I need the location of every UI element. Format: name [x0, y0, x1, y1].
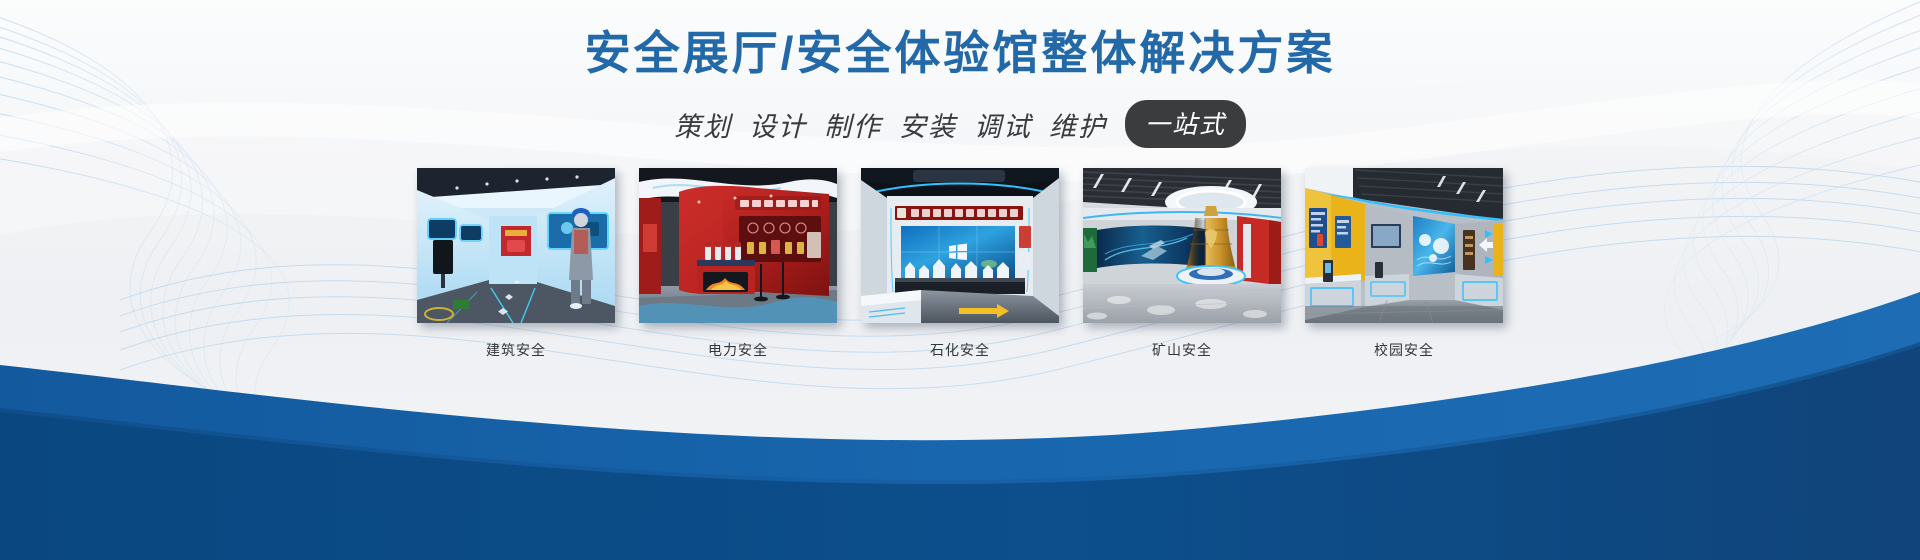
- thumbnail-card[interactable]: 石化安全: [861, 168, 1059, 360]
- thumbnail-caption: 建筑安全: [486, 340, 546, 360]
- thumbnail-image-power[interactable]: [639, 168, 837, 323]
- thumbnail-caption: 校园安全: [1374, 340, 1434, 360]
- thumbnail-image-construction[interactable]: [417, 168, 615, 323]
- thumbnail-card[interactable]: 矿山安全: [1083, 168, 1281, 360]
- service-steps: 策划 设计 制作 安装 调试 维护: [674, 105, 1107, 144]
- banner-root: 安全展厅/安全体验馆整体解决方案 策划 设计 制作 安装 调试 维护 一站式: [0, 0, 1920, 560]
- service-step-design: 设计: [749, 105, 807, 144]
- service-step-production: 制作: [824, 105, 882, 144]
- thumbnail-strip: 建筑安全: [0, 168, 1920, 360]
- thumbnail-card[interactable]: 建筑安全: [417, 168, 615, 360]
- service-step-maintenance: 维护: [1049, 105, 1107, 144]
- thumbnail-caption: 电力安全: [708, 340, 768, 360]
- one-stop-badge: 一站式: [1125, 100, 1246, 148]
- thumbnail-image-campus[interactable]: [1305, 168, 1503, 323]
- thumbnail-caption: 矿山安全: [1152, 340, 1212, 360]
- service-step-planning: 策划: [674, 105, 732, 144]
- thumbnail-image-mine[interactable]: [1083, 168, 1281, 323]
- page-title: 安全展厅/安全体验馆整体解决方案: [0, 26, 1920, 81]
- thumbnail-caption: 石化安全: [930, 340, 990, 360]
- thumbnail-image-petrochemical[interactable]: [861, 168, 1059, 323]
- subtitle-row: 策划 设计 制作 安装 调试 维护 一站式: [0, 100, 1920, 148]
- service-step-installation: 安装: [899, 105, 957, 144]
- thumbnail-card[interactable]: 校园安全: [1305, 168, 1503, 360]
- service-step-debugging: 调试: [974, 105, 1032, 144]
- thumbnail-card[interactable]: 电力安全: [639, 168, 837, 360]
